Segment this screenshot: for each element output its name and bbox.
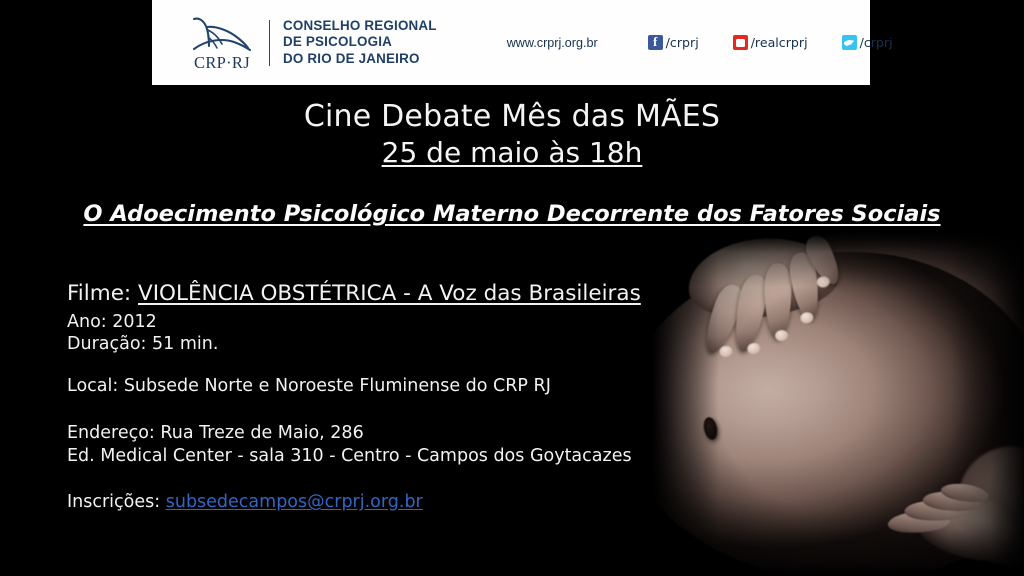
website-url[interactable]: www.crprj.org.br — [507, 36, 598, 50]
event-date-text: 25 de maio às 18h — [382, 136, 643, 169]
facebook-handle: /crprj — [666, 35, 699, 50]
film-row: Filme: VIOLÊNCIA OBSTÉTRICA - A Voz das … — [67, 283, 667, 305]
photo-upper-hand — [684, 232, 895, 366]
event-address-line-1: Endereço: Rua Treze de Maio, 286 — [67, 425, 667, 443]
social-links: /crprj /realcrprj /crprj — [648, 35, 893, 50]
facebook-icon — [648, 35, 663, 50]
crp-rj-wordmark: CRP·RJ — [186, 53, 258, 73]
crp-bird-wave-logo-icon: CRP·RJ — [184, 14, 258, 72]
twitter-icon — [842, 35, 857, 50]
crp-rj-logo: CRP·RJ CONSELHO REGIONAL DE PSICOLOGIA D… — [184, 14, 437, 72]
event-address-line-2: Ed. Medical Center - sala 310 - Centro -… — [67, 448, 667, 466]
event-date: 25 de maio às 18h — [0, 136, 1024, 169]
film-year: Ano: 2012 — [67, 314, 667, 332]
photo-fingernail — [719, 345, 733, 357]
event-location: Local: Subsede Norte e Noroeste Fluminen… — [67, 378, 667, 396]
organization-name: CONSELHO REGIONAL DE PSICOLOGIA DO RIO D… — [283, 18, 437, 68]
photo-lower-hand — [870, 455, 1024, 576]
org-line-3: DO RIO DE JANEIRO — [283, 51, 437, 68]
photo-fingernail — [747, 342, 761, 354]
registration-label: Inscrições: — [67, 492, 166, 512]
flyer-page: { "banner": { "logo": { "mark_icon": "cr… — [0, 0, 1024, 576]
film-title: VIOLÊNCIA OBSTÉTRICA - A Voz das Brasile… — [138, 281, 641, 306]
photo-finger — [764, 263, 791, 339]
event-subtitle: O Adoecimento Psicológico Materno Decorr… — [0, 201, 1024, 227]
youtube-link[interactable]: /realcrprj — [733, 35, 808, 50]
photo-fingernail — [775, 329, 789, 341]
youtube-handle: /realcrprj — [751, 35, 808, 50]
twitter-link[interactable]: /crprj — [842, 35, 893, 50]
pregnant-belly-photo — [652, 232, 1024, 576]
event-subtitle-text: O Adoecimento Psicológico Materno Decorr… — [83, 201, 940, 227]
twitter-handle: /crprj — [860, 35, 893, 50]
registration-email-link[interactable]: subsedecampos@crprj.org.br — [166, 492, 423, 512]
org-line-1: CONSELHO REGIONAL — [283, 18, 437, 35]
film-duration: Duração: 51 min. — [67, 336, 667, 354]
film-label: Filme: — [67, 281, 138, 306]
event-title: Cine Debate Mês das MÃES — [0, 99, 1024, 134]
facebook-link[interactable]: /crprj — [648, 35, 699, 50]
crp-rj-header-banner: CRP·RJ CONSELHO REGIONAL DE PSICOLOGIA D… — [152, 0, 870, 85]
youtube-icon — [733, 35, 748, 50]
org-line-2: DE PSICOLOGIA — [283, 34, 437, 51]
logo-divider — [269, 20, 270, 66]
registration-row: Inscrições: subsedecampos@crprj.org.br — [67, 494, 667, 512]
photo-fingernail — [800, 312, 814, 324]
event-details: Filme: VIOLÊNCIA OBSTÉTRICA - A Voz das … — [67, 283, 667, 512]
